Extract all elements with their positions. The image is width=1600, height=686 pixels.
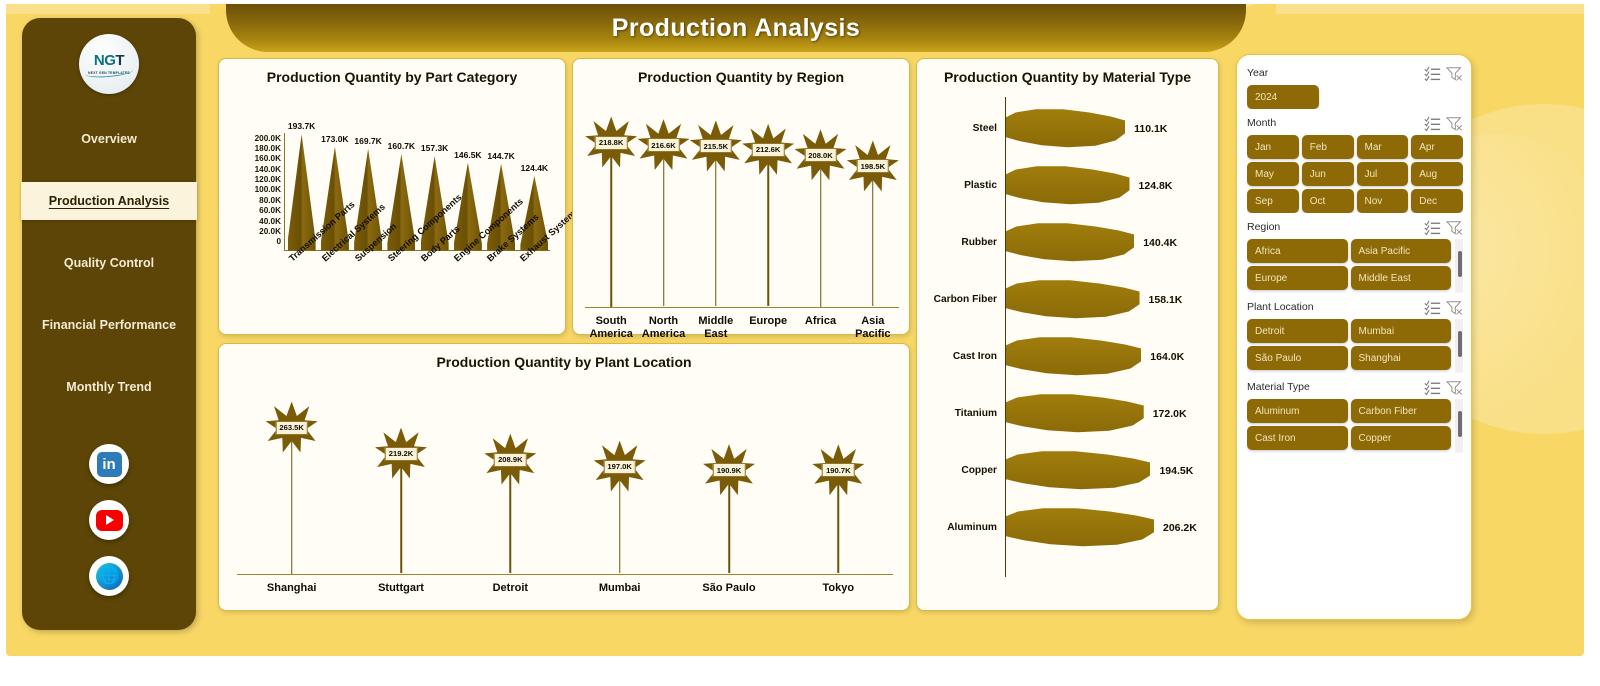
ribbon-category-label: Cast Iron	[917, 351, 1002, 362]
y-tick-label: 140.0K	[255, 166, 281, 174]
lollipop-marker[interactable]: 208.9K	[484, 434, 536, 486]
filter-group-material-type: Material TypeAluminumCarbon FiberCast Ir…	[1247, 375, 1463, 453]
checklist-icon[interactable]	[1424, 116, 1441, 131]
ribbon-category-label: Copper	[917, 465, 1002, 476]
star-data-label: 208.0K	[804, 148, 837, 162]
clear-filter-icon[interactable]	[1446, 220, 1463, 235]
filter-scrollbar[interactable]	[1455, 239, 1463, 293]
y-tick-label: 160.0K	[255, 155, 281, 163]
ribbon-data-label: 164.0K	[1150, 351, 1184, 363]
filter-tile-jan[interactable]: Jan	[1247, 135, 1299, 159]
sidebar-item-label: Financial Performance	[42, 318, 176, 332]
filter-scrollbar[interactable]	[1455, 319, 1463, 373]
sidebar-item-youtube[interactable]	[89, 500, 129, 540]
ribbon-category-label: Rubber	[917, 237, 1002, 248]
cone-data-label: 173.0K	[321, 134, 348, 144]
filter-tile-s-o-paulo[interactable]: São Paulo	[1247, 346, 1348, 370]
cone-data-label: 124.4K	[521, 163, 548, 173]
filter-tile-dec[interactable]: Dec	[1411, 189, 1463, 213]
linkedin-icon: in	[97, 452, 122, 477]
filter-tile-list: DetroitMumbaiSão PauloShanghaiStuttgartT…	[1247, 319, 1463, 373]
ribbon-shape	[1006, 109, 1125, 149]
filter-tile-aug[interactable]: Aug	[1411, 162, 1463, 186]
ribbon-shape	[1006, 508, 1154, 548]
lollipop-marker[interactable]: 218.8K	[585, 117, 637, 169]
filter-tile-jun[interactable]: Jun	[1302, 162, 1354, 186]
header-banner: Production Analysis	[226, 4, 1246, 52]
lollipop-marker[interactable]: 198.5K	[847, 140, 899, 192]
filter-tile-detroit[interactable]: Detroit	[1247, 319, 1348, 343]
ribbon-data-label: 206.2K	[1163, 522, 1197, 534]
category-label: Africa	[794, 315, 846, 328]
clear-filter-icon[interactable]	[1446, 380, 1463, 395]
sidebar-item-monthly-trend[interactable]: Monthly Trend	[22, 368, 196, 406]
filter-tile-list: AluminumCarbon FiberCast IronCopperPlast…	[1247, 399, 1463, 453]
y-tick-label: 100.0K	[255, 186, 281, 194]
filter-tile-copper[interactable]: Copper	[1351, 426, 1452, 450]
category-label: São Paulo	[674, 582, 783, 595]
y-tick-label: 120.0K	[255, 176, 281, 184]
sidebar-nav: OverviewProduction AnalysisQuality Contr…	[22, 120, 196, 430]
checklist-icon[interactable]	[1424, 220, 1441, 235]
sidebar-item-website[interactable]: 🌐	[89, 556, 129, 596]
plant-star-chart[interactable]: 263.5KShanghai219.2KStuttgart208.9KDetro…	[219, 372, 909, 600]
filter-tile-africa[interactable]: Africa	[1247, 239, 1348, 263]
filter-title: Month	[1247, 117, 1419, 129]
chart-title-part-category: Production Quantity by Part Category	[219, 59, 565, 87]
star-data-label: 198.5K	[857, 159, 890, 173]
ribbon-category-label: Titanium	[917, 408, 1002, 419]
sidebar-item-production-analysis[interactable]: Production Analysis	[21, 182, 197, 220]
chart-card-material-type: Production Quantity by Material Type Ste…	[916, 58, 1219, 611]
ribbon-row[interactable]: Titanium172.0K	[917, 386, 1218, 442]
filter-tile-oct[interactable]: Oct	[1302, 189, 1354, 213]
chart-card-region: Production Quantity by Region 218.8KSout…	[572, 58, 910, 335]
y-tick-label: 200.0K	[255, 135, 281, 143]
lollipop-marker[interactable]: 212.6K	[742, 124, 794, 176]
filter-tile-jul[interactable]: Jul	[1357, 162, 1409, 186]
star-data-label: 208.9K	[494, 453, 527, 467]
ribbon-data-label: 172.0K	[1153, 408, 1187, 420]
filter-tile-list: 2024	[1247, 85, 1463, 109]
filter-tile-asia-pacific[interactable]: Asia Pacific	[1351, 239, 1452, 263]
ribbon-data-label: 124.8K	[1139, 180, 1173, 192]
filter-tile-list: AfricaAsia PacificEuropeMiddle EastNorth…	[1247, 239, 1463, 293]
filter-header: Year	[1247, 61, 1463, 85]
category-label: Shanghai	[237, 582, 346, 595]
cone-data-label: 146.5K	[454, 150, 481, 160]
filter-header: Region	[1247, 215, 1463, 239]
sidebar-item-financial-performance[interactable]: Financial Performance	[22, 306, 196, 344]
checklist-icon[interactable]	[1424, 380, 1441, 395]
star-data-label: 190.9K	[713, 463, 746, 477]
clear-filter-icon[interactable]	[1446, 66, 1463, 81]
axis-baseline	[237, 574, 893, 575]
lollipop-marker[interactable]: 216.6K	[638, 119, 690, 171]
filter-tile-middle-east[interactable]: Middle East	[1351, 266, 1452, 290]
filter-tile-feb[interactable]: Feb	[1302, 135, 1354, 159]
lollipop-marker[interactable]: 208.0K	[795, 129, 847, 181]
filter-tile-nov[interactable]: Nov	[1357, 189, 1409, 213]
ribbon-data-label: 140.4K	[1143, 237, 1177, 249]
filter-header: Material Type	[1247, 375, 1463, 399]
filter-title: Material Type	[1247, 381, 1419, 393]
filter-tile-sep[interactable]: Sep	[1247, 189, 1299, 213]
filter-tile-list: JanFebMarAprMayJunJulAugSepOctNovDec	[1247, 135, 1463, 213]
filter-group-month: MonthJanFebMarAprMayJunJulAugSepOctNovDe…	[1247, 111, 1463, 213]
filter-tile-2024[interactable]: 2024	[1247, 85, 1319, 109]
logo-swoosh-icon	[85, 65, 134, 79]
ribbon-row[interactable]: Plastic124.8K	[917, 158, 1218, 214]
chart-card-plant-location: Production Quantity by Plant Location 26…	[218, 343, 910, 611]
ribbon-shape	[1006, 394, 1144, 434]
category-label: Europe	[742, 315, 794, 328]
sidebar-item-label: Quality Control	[64, 256, 154, 270]
star-data-label: 218.8K	[595, 136, 628, 150]
star-data-label: 212.6K	[752, 143, 785, 157]
filter-tile-shanghai[interactable]: Shanghai	[1351, 346, 1452, 370]
star-data-label: 190.7K	[822, 463, 855, 477]
category-label: Detroit	[456, 582, 565, 595]
region-star-chart[interactable]: 218.8KSouth America216.6KNorth America21…	[573, 87, 909, 319]
ribbon-shape	[1006, 223, 1134, 263]
star-data-label: 216.6K	[647, 138, 680, 152]
category-label: Tokyo	[784, 582, 893, 595]
ribbon-shape	[1006, 451, 1150, 491]
ribbon-data-label: 158.1K	[1149, 294, 1183, 306]
ribbon-row[interactable]: Steel110.1K	[917, 101, 1218, 157]
star-data-label: 215.5K	[700, 139, 733, 153]
lollipop-marker[interactable]: 190.9K	[703, 444, 755, 496]
star-data-label: 219.2K	[385, 447, 418, 461]
material-ribbon-chart[interactable]: Steel110.1KPlastic124.8KRubber140.4KCarb…	[917, 87, 1218, 587]
chart-title-plant-location: Production Quantity by Plant Location	[219, 344, 909, 372]
category-label: North America	[637, 315, 689, 341]
filter-header: Plant Location	[1247, 295, 1463, 319]
filter-tile-europe[interactable]: Europe	[1247, 266, 1348, 290]
star-data-label: 197.0K	[603, 460, 636, 474]
category-label: Stuttgart	[346, 582, 455, 595]
y-tick-label: 80.0K	[259, 197, 281, 205]
y-tick-label: 40.0K	[259, 218, 281, 226]
scrollbar-thumb[interactable]	[1458, 331, 1462, 357]
ribbon-row[interactable]: Carbon Fiber158.1K	[917, 272, 1218, 328]
checklist-icon[interactable]	[1424, 66, 1441, 81]
ribbon-category-label: Carbon Fiber	[917, 294, 1002, 305]
sidebar: NGT NEXT GEN TEMPLATES OverviewProductio…	[22, 18, 196, 630]
filter-group-region: RegionAfricaAsia PacificEuropeMiddle Eas…	[1247, 215, 1463, 293]
sidebar-item-linkedin[interactable]: in	[89, 444, 129, 484]
brand-logo: NGT NEXT GEN TEMPLATES	[79, 34, 139, 94]
scrollbar-thumb[interactable]	[1458, 411, 1462, 437]
lollipop-marker[interactable]: 263.5K	[266, 402, 318, 454]
filter-title: Plant Location	[1247, 301, 1419, 313]
sidebar-item-label: Production Analysis	[49, 194, 169, 208]
youtube-icon	[96, 510, 123, 531]
filter-group-year: Year2024	[1247, 61, 1463, 109]
ribbon-category-label: Plastic	[917, 180, 1002, 191]
ribbon-category-label: Steel	[917, 123, 1002, 134]
ribbon-row[interactable]: Rubber140.4K	[917, 215, 1218, 271]
lollipop-marker[interactable]: 215.5K	[690, 120, 742, 172]
y-tick-label: 20.0K	[259, 228, 281, 236]
category-label: Mumbai	[565, 582, 674, 595]
cone-data-label: 144.7K	[487, 151, 514, 161]
category-label: Middle East	[690, 315, 742, 341]
filter-panel: Year2024MonthJanFebMarAprMayJunJulAugSep…	[1236, 54, 1472, 620]
ribbon-data-label: 110.1K	[1134, 123, 1167, 135]
y-tick-label: 0	[276, 238, 281, 246]
lollipop-marker[interactable]: 219.2K	[375, 428, 427, 480]
star-data-label: 263.5K	[275, 421, 308, 435]
chart-title-region: Production Quantity by Region	[573, 59, 909, 87]
chart-card-part-category: Production Quantity by Part Category 200…	[218, 58, 566, 335]
y-tick-label: 60.0K	[259, 207, 281, 215]
cone-data-label: 193.7K	[288, 121, 315, 131]
ribbon-row[interactable]: Cast Iron164.0K	[917, 329, 1218, 385]
lollipop-marker[interactable]: 197.0K	[594, 441, 646, 493]
cone-data-label: 157.3K	[421, 143, 448, 153]
clear-filter-icon[interactable]	[1446, 300, 1463, 315]
ribbon-shape	[1006, 337, 1141, 377]
sidebar-item-quality-control[interactable]: Quality Control	[22, 244, 196, 282]
y-tick-label: 180.0K	[255, 145, 281, 153]
axis-baseline	[585, 307, 899, 308]
filter-tile-may[interactable]: May	[1247, 162, 1299, 186]
category-label: South America	[585, 315, 637, 341]
dashboard-page: Production Analysis NGT NEXT GEN TEMPLAT…	[0, 0, 1600, 686]
x-axis-labels: Transmission PartsElectrical SystemsSusp…	[279, 254, 559, 324]
checklist-icon[interactable]	[1424, 300, 1441, 315]
chart-title-material-type: Production Quantity by Material Type	[917, 59, 1218, 87]
sidebar-item-overview[interactable]: Overview	[22, 120, 196, 158]
cone-data-label: 160.7K	[388, 141, 415, 151]
ribbon-category-label: Aluminum	[917, 522, 1002, 533]
filter-group-plant-location: Plant LocationDetroitMumbaiSão PauloShan…	[1247, 295, 1463, 373]
filter-tile-apr[interactable]: Apr	[1411, 135, 1463, 159]
filter-tile-mar[interactable]: Mar	[1357, 135, 1409, 159]
filter-header: Month	[1247, 111, 1463, 135]
clear-filter-icon[interactable]	[1446, 116, 1463, 131]
globe-icon: 🌐	[96, 563, 123, 590]
filter-title: Year	[1247, 67, 1419, 79]
filter-tile-mumbai[interactable]: Mumbai	[1351, 319, 1452, 343]
filter-title: Region	[1247, 221, 1419, 233]
header: Production Analysis	[6, 4, 1584, 56]
category-label: Asia Pacific	[847, 315, 899, 341]
ribbon-row[interactable]: Aluminum206.2K	[917, 500, 1218, 556]
ribbon-data-label: 194.5K	[1159, 465, 1193, 477]
y-axis-labels: 200.0K180.0K160.0K140.0K120.0K100.0K80.0…	[231, 135, 281, 247]
page-title: Production Analysis	[612, 14, 860, 43]
scrollbar-thumb[interactable]	[1458, 251, 1462, 277]
filter-tile-carbon-fiber[interactable]: Carbon Fiber	[1351, 399, 1452, 423]
ribbon-shape	[1006, 166, 1130, 206]
sidebar-item-label: Monthly Trend	[66, 380, 151, 394]
filter-scrollbar[interactable]	[1455, 399, 1463, 453]
cone-data-label: 169.7K	[354, 136, 381, 146]
filter-tile-cast-iron[interactable]: Cast Iron	[1247, 426, 1348, 450]
ribbon-shape	[1006, 280, 1140, 320]
cone-chart[interactable]: 200.0K180.0K160.0K140.0K120.0K100.0K80.0…	[219, 91, 565, 329]
filter-tile-aluminum[interactable]: Aluminum	[1247, 399, 1348, 423]
sidebar-item-label: Overview	[81, 132, 137, 146]
lollipop-marker[interactable]: 190.7K	[812, 444, 864, 496]
ribbon-row[interactable]: Copper194.5K	[917, 443, 1218, 499]
social-links: in 🌐	[89, 444, 129, 596]
